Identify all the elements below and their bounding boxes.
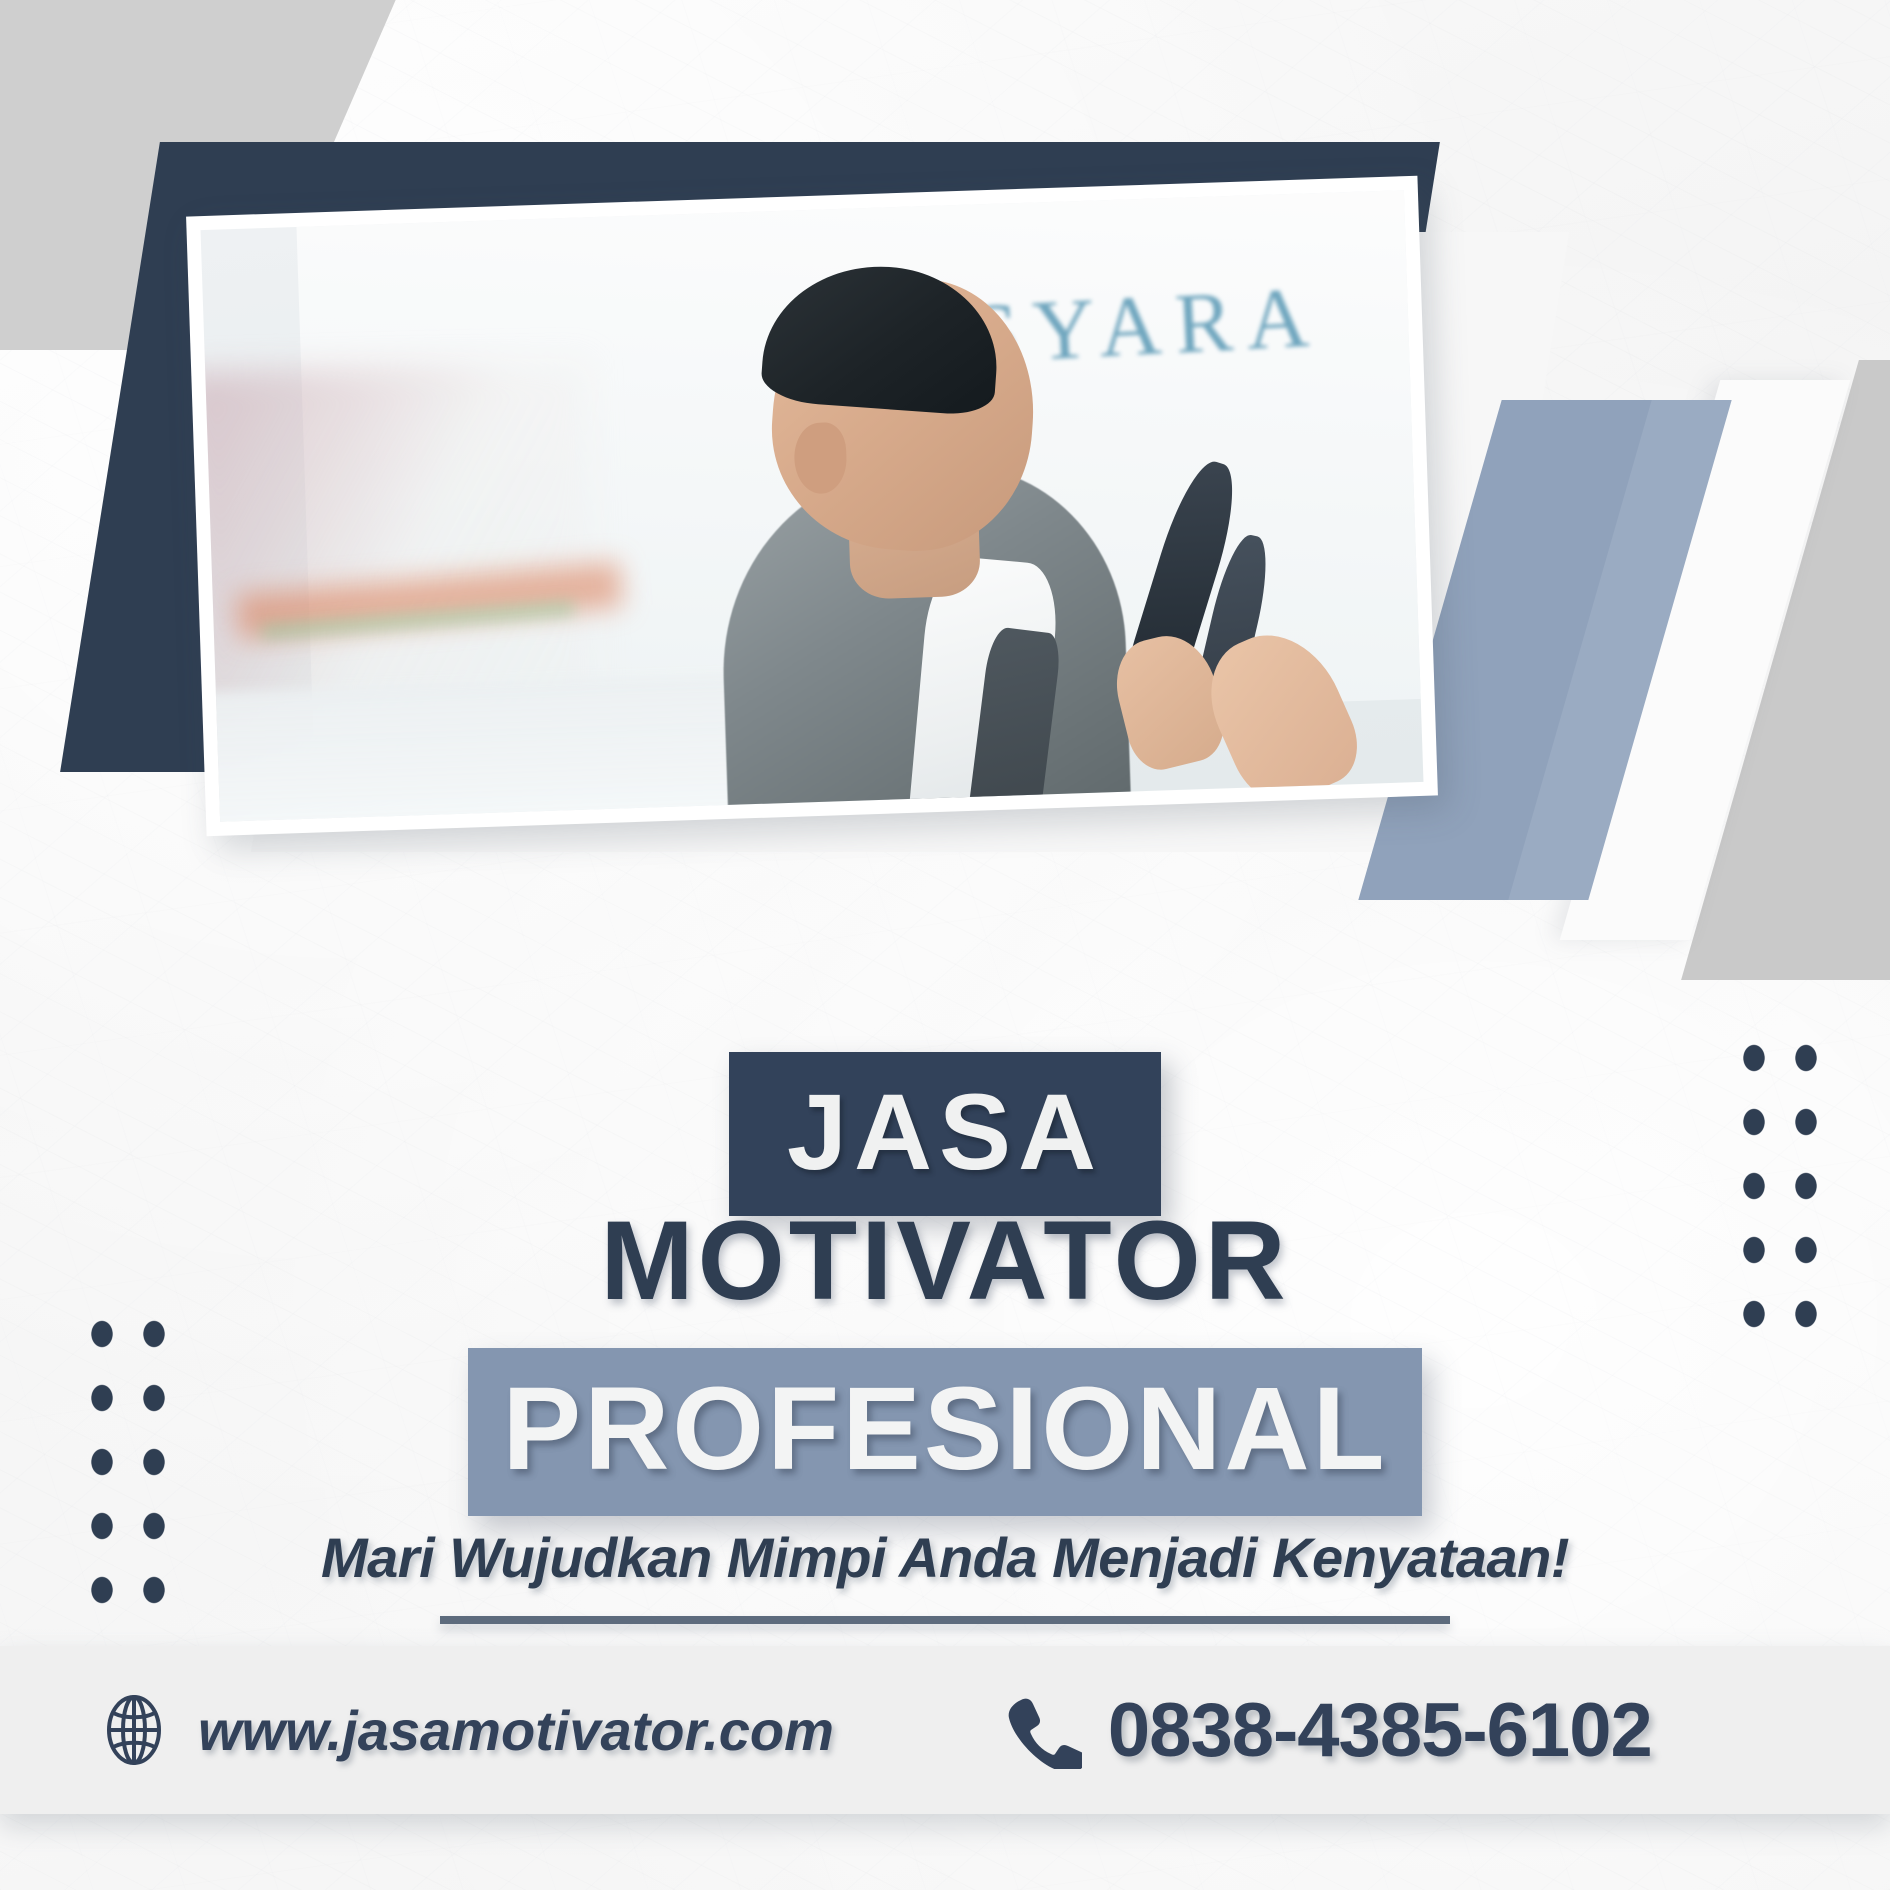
phone-icon [1004,1691,1082,1769]
headline-profesional-row: PROFESIONAL [0,1348,1890,1516]
promo-poster: 4 SYARA JASA MOTIVATOR PROFESIONAL [0,0,1890,1890]
speaker-photo: 4 SYARA [201,190,1424,822]
website-text: www.jasamotivator.com [198,1698,834,1763]
contact-footer-bar: www.jasamotivator.com 0838-4385-6102 [0,1646,1890,1814]
tagline-text: Mari Wujudkan Mimpi Anda Menjadi Kenyata… [0,1530,1890,1586]
headline-motivator-row: MOTIVATOR [0,1205,1890,1317]
badge-jasa: JASA [729,1052,1161,1216]
phone-contact[interactable]: 0838-4385-6102 [1004,1687,1652,1774]
speaker-hair [759,259,1003,417]
speaker-figure [682,193,1351,806]
speaker-photo-card: 4 SYARA [186,176,1438,837]
tagline-divider [440,1616,1450,1624]
tagline-block: Mari Wujudkan Mimpi Anda Menjadi Kenyata… [0,1530,1890,1624]
headline-badge-row: JASA [0,1052,1890,1216]
headline-motivator: MOTIVATOR [600,1198,1289,1323]
globe-icon [96,1692,172,1768]
website-contact[interactable]: www.jasamotivator.com [96,1692,834,1768]
band-profesional: PROFESIONAL [468,1348,1421,1516]
phone-number-text: 0838-4385-6102 [1108,1687,1652,1774]
